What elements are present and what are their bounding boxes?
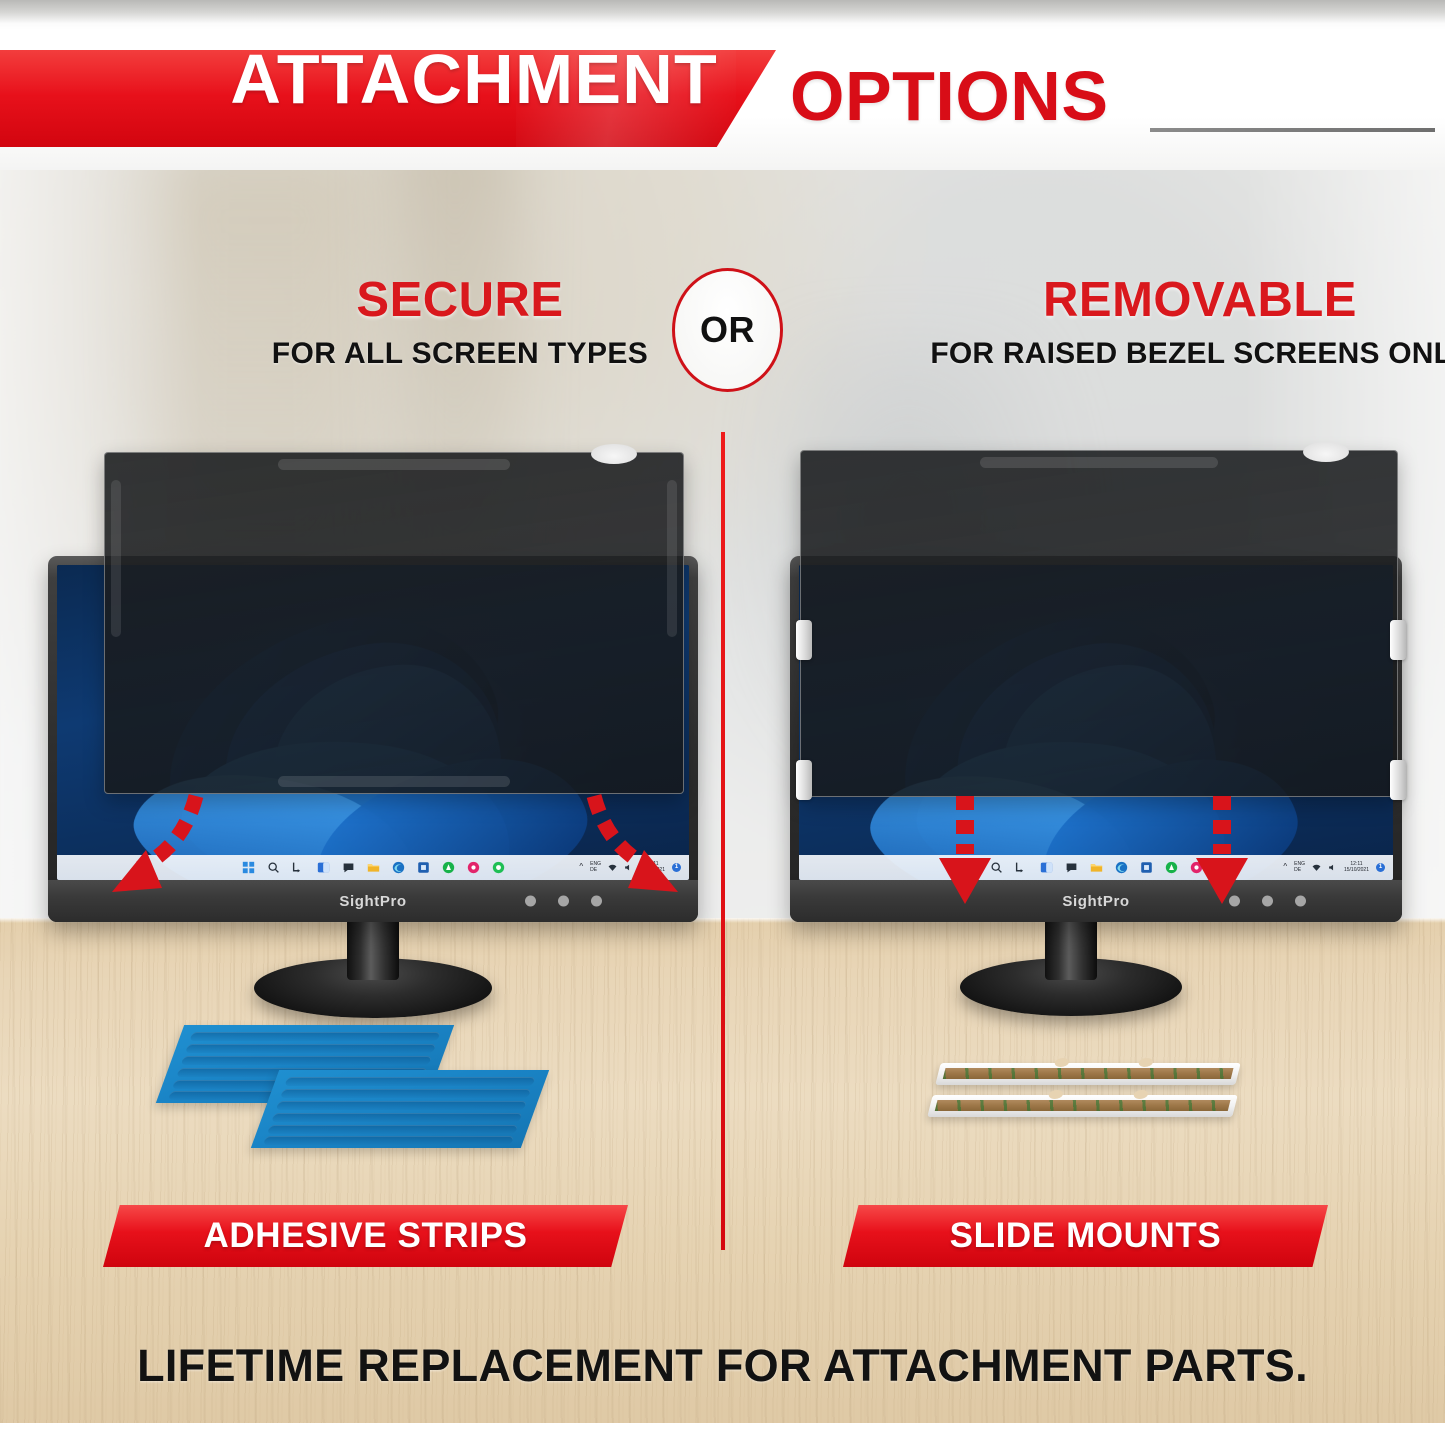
part-banner-label-left: ADHESIVE STRIPS: [203, 1216, 527, 1256]
system-tray-right[interactable]: ^ ENG DE 12:11 15/10/2021 1: [1283, 855, 1385, 880]
slide-mount-strip-front: [927, 1095, 1237, 1117]
task-view-icon[interactable]: [292, 861, 305, 874]
store-icon[interactable]: [417, 861, 430, 874]
page-header: ATTACHMENT OPTIONS: [0, 30, 1445, 170]
network-icon[interactable]: [1312, 863, 1321, 872]
slide-mount-adhesive-paper: [935, 1100, 1231, 1111]
top-frame-strip: [0, 0, 1445, 30]
edge-browser-icon[interactable]: [1115, 861, 1128, 874]
app-green-icon[interactable]: [442, 861, 455, 874]
filter-camera-cutout-left: [591, 444, 637, 464]
app-green-circle-icon[interactable]: [492, 861, 505, 874]
arrow-straight-down-right-icon: [1192, 792, 1252, 907]
section-heading-removable: REMOVABLE FOR RAISED BEZEL SCREENS ONLY: [680, 272, 1445, 371]
filter-tab-top-right: [980, 457, 1218, 468]
chat-icon[interactable]: [1065, 861, 1078, 874]
part-banner-adhesive-strips: ADHESIVE STRIPS: [103, 1205, 628, 1267]
section-subtitle-removable: FOR RAISED BEZEL SCREENS ONLY: [680, 337, 1445, 371]
volume-icon[interactable]: [1328, 863, 1337, 872]
taskbar-icon-group-left: [242, 861, 505, 874]
chat-icon[interactable]: [342, 861, 355, 874]
filter-tab-bottom-left: [278, 776, 509, 787]
section-title-removable: REMOVABLE: [680, 272, 1445, 328]
slide-mount-notch: [1138, 1058, 1154, 1067]
privacy-filter-panel-secure[interactable]: [104, 452, 684, 794]
tray-clock[interactable]: 12:11 15/10/2021: [1344, 862, 1369, 873]
taskbar-icon-group-right: [965, 861, 1228, 874]
app-green-icon[interactable]: [1165, 861, 1178, 874]
search-icon[interactable]: [267, 861, 280, 874]
windows-taskbar-right[interactable]: ^ ENG DE 12:11 15/10/2021 1: [799, 855, 1393, 880]
app-pink-icon[interactable]: [467, 861, 480, 874]
adhesive-strip-sheet-front: [251, 1070, 549, 1148]
arrow-straight-down-left-icon: [935, 792, 995, 907]
task-view-icon[interactable]: [1015, 861, 1028, 874]
file-explorer-icon[interactable]: [1090, 861, 1103, 874]
part-banner-label-right: SLIDE MOUNTS: [950, 1216, 1222, 1256]
filter-tab-side-left: [111, 480, 121, 636]
slide-mount-clip-top-left: [796, 620, 812, 660]
monitor-brand-right: SightPro: [1062, 893, 1129, 910]
slide-mount-clip-top-right: [1390, 620, 1406, 660]
monitor-brand-left: SightPro: [339, 893, 406, 910]
header-title-rest: OPTIONS: [790, 56, 1109, 136]
arrow-curved-down-left-icon: [100, 788, 230, 918]
slide-mount-clip-bottom-left: [796, 760, 812, 800]
slide-mount-notch: [1048, 1090, 1064, 1099]
footer-tagline: LIFETIME REPLACEMENT FOR ATTACHMENT PART…: [0, 1340, 1445, 1392]
arrow-curved-down-right-icon: [560, 788, 690, 918]
monitor-chin-right: SightPro: [790, 880, 1402, 922]
slide-mount-clip-bottom-right: [1390, 760, 1406, 800]
infographic-canvas: ^ ENG DE 12:11 15/10/2021 1 SightPro: [0, 0, 1445, 1445]
header-title-highlight: ATTACHMENT: [0, 30, 740, 127]
widgets-icon[interactable]: [1040, 861, 1053, 874]
or-divider-badge: OR: [672, 268, 783, 392]
slide-mount-notch: [1054, 1058, 1070, 1067]
store-icon[interactable]: [1140, 861, 1153, 874]
header-rule-line: [1150, 128, 1435, 132]
slide-mount-strip-back: [935, 1063, 1240, 1085]
slide-mount-notch: [1133, 1090, 1149, 1099]
privacy-filter-panel-removable[interactable]: [800, 450, 1398, 797]
monitor-neck-left: [347, 918, 399, 980]
tray-expand-icon[interactable]: ^: [1283, 863, 1287, 871]
monitor-neck-right: [1045, 918, 1097, 980]
tray-language[interactable]: ENG DE: [1294, 862, 1305, 873]
filter-tab-top-left: [278, 459, 509, 470]
bottom-frame-strip: [0, 1423, 1445, 1445]
file-explorer-icon[interactable]: [367, 861, 380, 874]
vertical-divider: [721, 432, 725, 1250]
widgets-icon[interactable]: [317, 861, 330, 874]
part-banner-slide-mounts: SLIDE MOUNTS: [843, 1205, 1328, 1267]
windows-start-icon[interactable]: [242, 861, 255, 874]
filter-tab-side-right: [667, 480, 677, 636]
edge-browser-icon[interactable]: [392, 861, 405, 874]
filter-camera-cutout-right: [1303, 442, 1349, 462]
notification-badge[interactable]: 1: [1376, 863, 1385, 872]
slide-mount-adhesive-paper: [943, 1068, 1234, 1079]
